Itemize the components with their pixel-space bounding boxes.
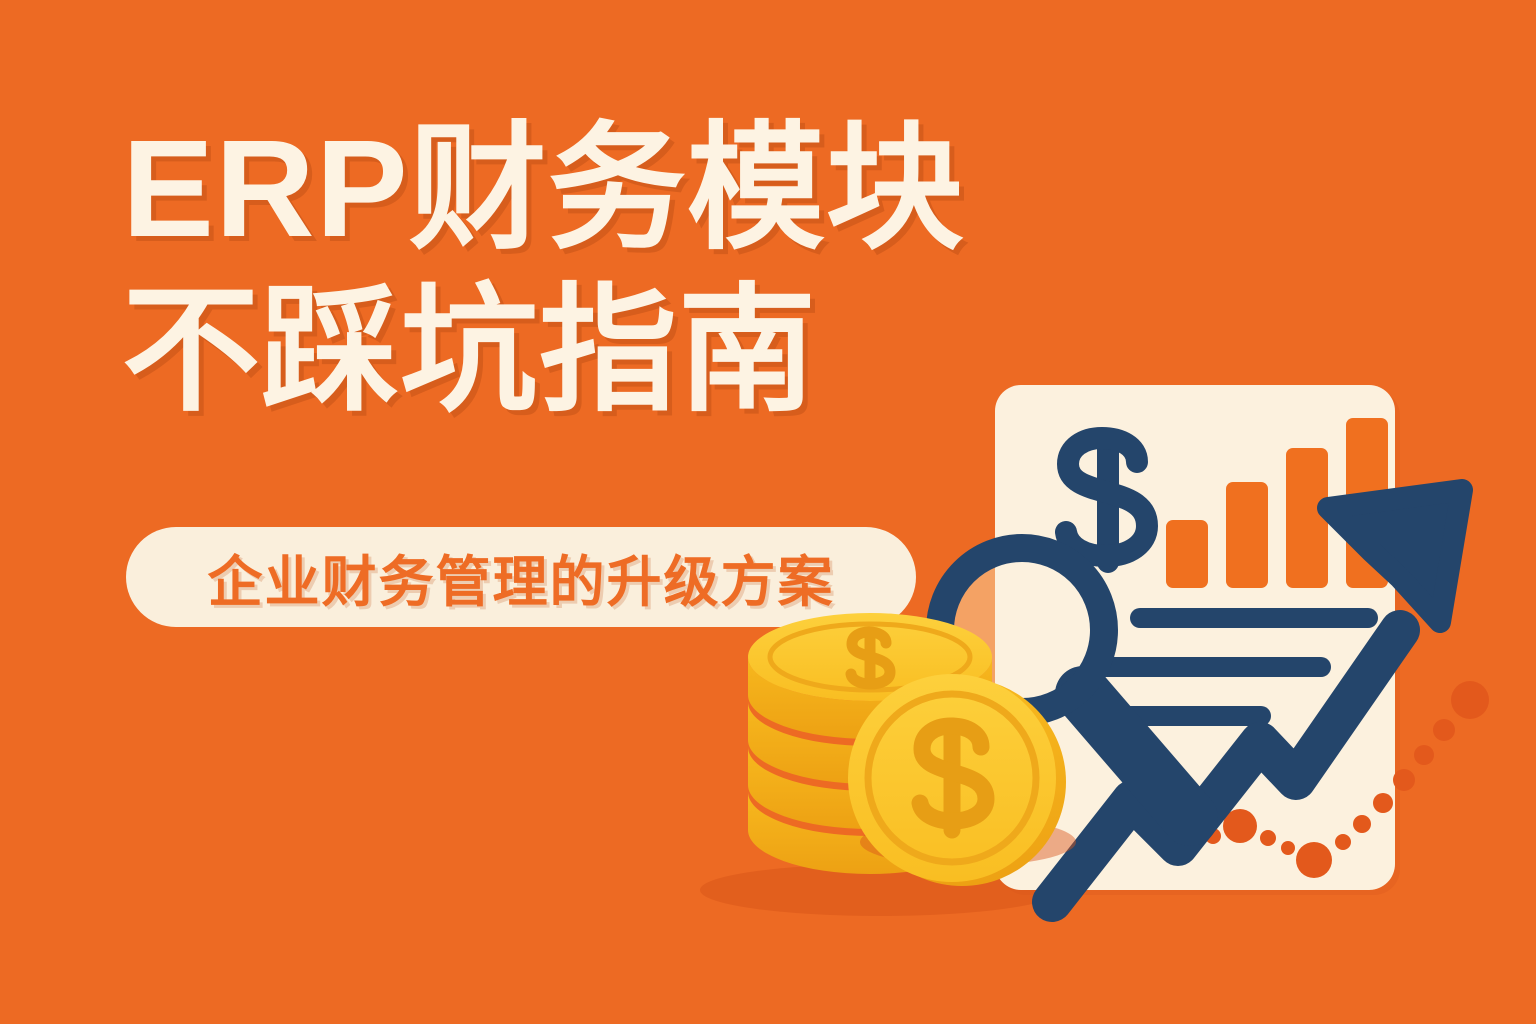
bar-3 bbox=[1286, 448, 1328, 588]
card-line-2 bbox=[1095, 657, 1331, 677]
poster-root: ERP财务模块 不踩坑指南 企业财务管理的升级方案 bbox=[0, 0, 1536, 1024]
card-line-1 bbox=[1130, 608, 1378, 628]
bar-1 bbox=[1166, 520, 1208, 588]
bar-2 bbox=[1226, 482, 1268, 588]
headline-line-1: ERP财务模块 bbox=[122, 98, 1082, 282]
finance-illustration bbox=[700, 330, 1500, 970]
